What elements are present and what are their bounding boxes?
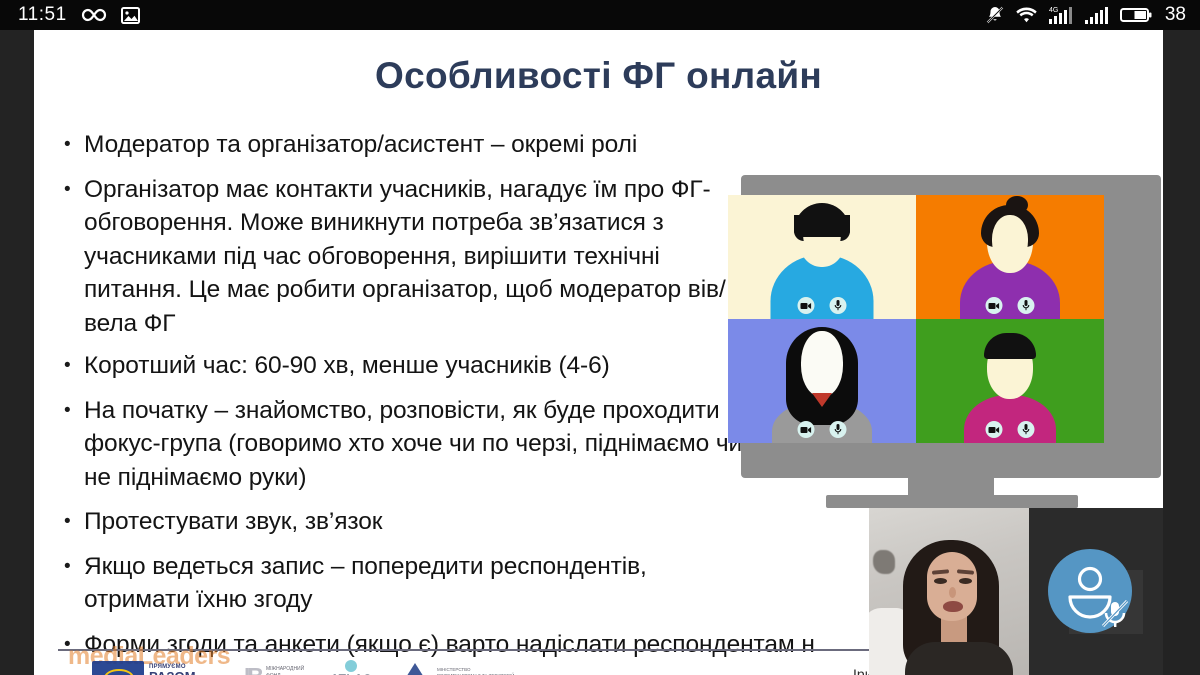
tile-controls [986,297,1035,314]
webcam-overlay[interactable] [869,508,1163,675]
list-item: • Модератор та організатор/асистент – ок… [64,128,759,162]
list-item: • Якщо ведеться запис – попередити респо… [64,550,759,617]
signal-icon [1085,5,1109,25]
atlas-network-logo: ATLAS NETWORK [330,660,372,675]
status-clock: 11:51 [18,4,67,26]
fund-logo-line1: МІЖНАРОДНИЙ [266,666,304,673]
presenter-nose [949,587,956,598]
ministry-logo-text: МІНІСТЕРСТВО РОЗВИТКУ ГРОМАД ТА ТЕРИТОРІ… [437,667,514,675]
participant-tile [728,195,916,319]
status-bar-left: 11:51 [18,4,140,26]
eu-logo-text: ПРЯМУЄМО РАЗОМ фінансується Європейським… [149,664,218,675]
bullet-text: Організатор має контакти учасників, нага… [84,173,759,341]
bullet-text: Модератор та організатор/асистент – окре… [84,128,759,162]
eu-flag-icon [92,661,144,675]
microphone-icon [830,297,847,314]
battery-icon [1120,6,1152,24]
list-item: • Коротший час: 60-90 хв, менше учасникі… [64,349,759,383]
fund-mark-icon: IB [244,663,261,675]
slide-title: Особливості ФГ онлайн [34,55,1163,97]
infinity-icon [81,7,107,23]
slide-bullet-list: • Модератор та організатор/асистент – ок… [64,128,759,672]
monitor-screen [728,195,1104,443]
bullet-marker: • [64,505,84,539]
svg-text:4G: 4G [1049,7,1058,14]
bullet-marker: • [64,128,84,162]
microphone-muted-icon [1098,597,1132,631]
triangle-icon [398,663,432,675]
tile-controls [986,421,1035,438]
participant-tile [728,319,916,443]
participant-tile [916,319,1104,443]
tile-controls [798,421,847,438]
tile-controls [798,297,847,314]
video-conference-illustration [706,170,1163,510]
image-icon [121,6,140,25]
bullet-marker: • [64,394,84,495]
participant-avatar[interactable] [1048,549,1132,633]
participant-hair-side [794,215,850,241]
status-bar: 11:51 [0,0,1200,30]
ministry-logo: МІНІСТЕРСТВО РОЗВИТКУ ГРОМАД ТА ТЕРИТОРІ… [398,663,514,675]
presenter-mouth [943,601,963,612]
bullet-marker: • [64,550,84,617]
phone-screen: 11:51 [0,0,1200,675]
battery-percent: 38 [1165,4,1186,26]
bullet-text: На початку – знайомство, розповісти, як … [84,394,759,495]
international-renaissance-foundation-logo: IB МІЖНАРОДНИЙ ФОНД ВІДРОДЖЕННЯ [244,663,304,675]
bullet-marker: • [64,349,84,383]
presenter-eye-right [959,578,972,584]
bullet-text: Протестувати звук, зв’язок [84,505,759,539]
footer-logos: ПРЯМУЄМО РАЗОМ фінансується Європейським… [58,660,514,675]
status-bar-right: 4G [985,4,1186,26]
participant-hair-bun [1006,196,1028,214]
participant-head [801,331,843,397]
monitor-stand-base [826,495,1078,508]
list-item: • На початку – знайомство, розповісти, я… [64,394,759,495]
microphone-icon [830,421,847,438]
eu-pryamuyemo-razom-logo: ПРЯМУЄМО РАЗОМ фінансується Європейським… [92,661,218,675]
presenter-video-feed[interactable] [869,508,1029,675]
camera-icon [986,421,1003,438]
participant-hair [984,333,1036,359]
bullet-text: Якщо ведеться запис – попередити респонд… [84,550,759,617]
eu-logo-line2: РАЗОМ [149,670,218,675]
fund-logo-text: МІЖНАРОДНИЙ ФОНД ВІДРОДЖЕННЯ [266,666,304,675]
signal-4g-icon: 4G [1048,5,1074,25]
camera-icon [798,297,815,314]
participant-face [992,215,1028,265]
atlas-globe-icon [345,660,357,672]
wifi-icon [1016,6,1037,24]
bell-muted-icon [985,5,1005,25]
presenter-torso [905,642,1013,675]
microphone-icon [1018,421,1035,438]
bullet-text: Коротший час: 60-90 хв, менше учасників … [84,349,759,383]
list-item: • Протестувати звук, зв’язок [64,505,759,539]
presenter-eye-left [934,578,947,584]
background-object [873,550,895,574]
bullet-marker: • [64,173,84,341]
microphone-icon [1018,297,1035,314]
list-item: • Організатор має контакти учасників, на… [64,173,759,341]
camera-icon [986,297,1003,314]
camera-icon [798,421,815,438]
background-chair [869,608,907,675]
participant-tile [916,195,1104,319]
